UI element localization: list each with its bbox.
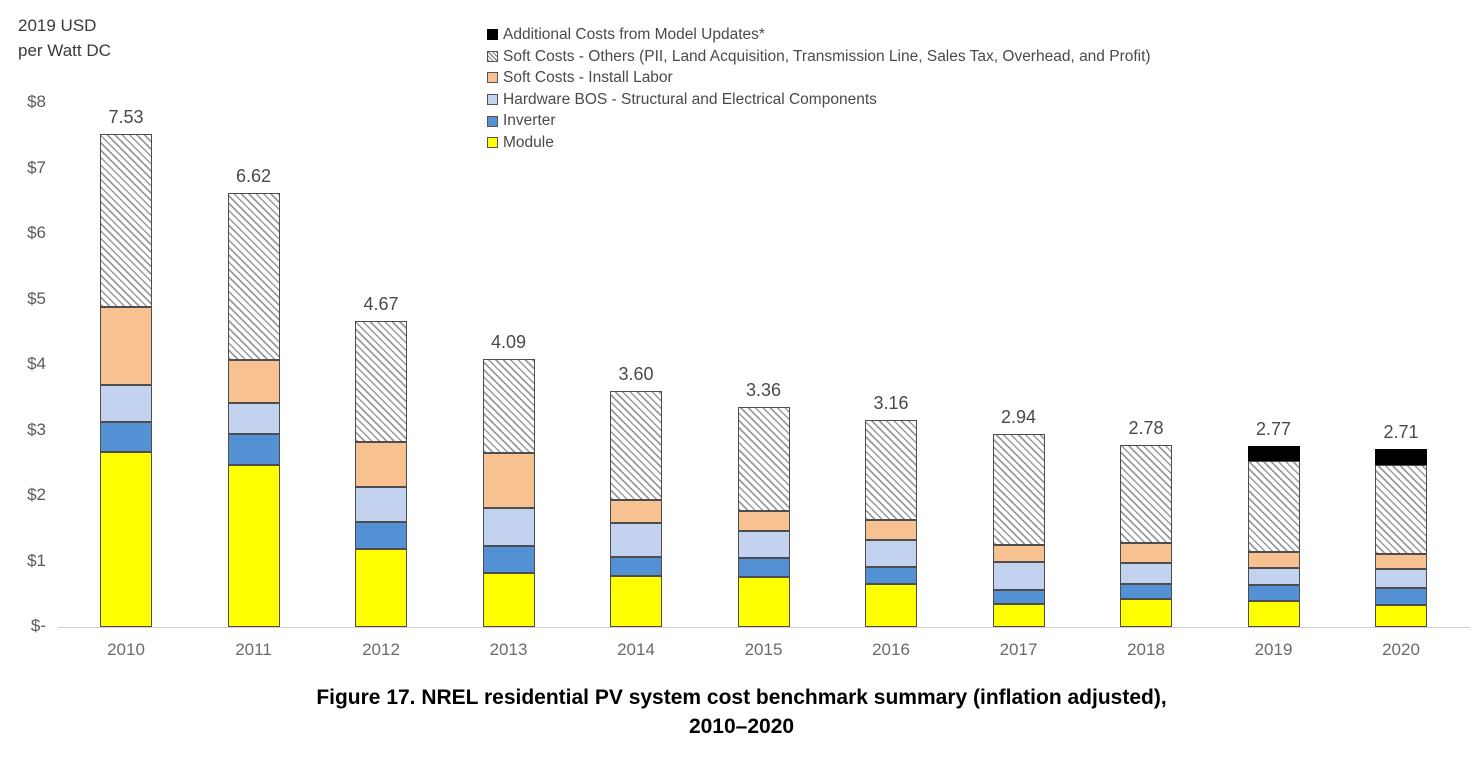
bar-segment[interactable] <box>610 557 662 576</box>
bar-segment[interactable] <box>993 545 1045 562</box>
bar-segment[interactable] <box>865 584 917 627</box>
bar-segment[interactable] <box>1120 445 1172 543</box>
x-axis-tick-label: 2017 <box>983 640 1055 660</box>
bar-segment[interactable] <box>1375 449 1427 464</box>
bar-segment[interactable] <box>1248 585 1300 601</box>
bar-segment[interactable] <box>865 567 917 584</box>
bar-total-label: 4.67 <box>345 294 417 315</box>
bar-2020[interactable]: 2.712020 <box>1375 0 1427 627</box>
bar-segment[interactable] <box>100 452 152 627</box>
x-axis-tick-label: 2019 <box>1238 640 1310 660</box>
bar-segment[interactable] <box>1375 465 1427 555</box>
y-axis-tick-label: $3 <box>0 420 46 440</box>
bar-total-label: 6.62 <box>218 166 290 187</box>
bar-2019[interactable]: 2.772019 <box>1248 0 1300 627</box>
bar-total-label: 2.94 <box>983 407 1055 428</box>
bar-segment[interactable] <box>738 577 790 627</box>
x-axis-tick-label: 2013 <box>473 640 545 660</box>
bar-2011[interactable]: 6.622011 <box>228 0 280 627</box>
caption-line-1: Figure 17. NREL residential PV system co… <box>0 683 1483 712</box>
bar-2017[interactable]: 2.942017 <box>993 0 1045 627</box>
bar-segment[interactable] <box>483 359 535 453</box>
bar-segment[interactable] <box>228 193 280 359</box>
bar-segment[interactable] <box>228 360 280 403</box>
bar-segment[interactable] <box>483 453 535 509</box>
bar-segment[interactable] <box>993 590 1045 604</box>
y-axis-tick-label: $8 <box>0 92 46 112</box>
x-axis-tick-label: 2018 <box>1110 640 1182 660</box>
bar-segment[interactable] <box>228 465 280 627</box>
x-axis-tick-label: 2010 <box>90 640 162 660</box>
bar-total-label: 4.09 <box>473 332 545 353</box>
bar-segment[interactable] <box>1120 584 1172 599</box>
bar-segment[interactable] <box>100 385 152 422</box>
bar-segment[interactable] <box>1248 568 1300 585</box>
x-axis-baseline <box>58 627 1470 628</box>
bar-segment[interactable] <box>228 403 280 434</box>
x-axis-tick-label: 2011 <box>218 640 290 660</box>
bar-total-label: 3.16 <box>855 393 927 414</box>
bar-segment[interactable] <box>100 307 152 385</box>
bar-segment[interactable] <box>610 523 662 557</box>
bar-2014[interactable]: 3.602014 <box>610 0 662 627</box>
bar-segment[interactable] <box>738 407 790 511</box>
x-axis-tick-label: 2016 <box>855 640 927 660</box>
x-axis-tick-label: 2014 <box>600 640 672 660</box>
bar-segment[interactable] <box>993 434 1045 545</box>
bar-2012[interactable]: 4.672012 <box>355 0 407 627</box>
bar-segment[interactable] <box>1120 599 1172 627</box>
y-axis-tick-label: $6 <box>0 223 46 243</box>
bar-segment[interactable] <box>355 522 407 550</box>
bar-segment[interactable] <box>1375 554 1427 569</box>
bar-total-label: 3.36 <box>728 380 800 401</box>
bar-2016[interactable]: 3.162016 <box>865 0 917 627</box>
bar-segment[interactable] <box>1248 461 1300 552</box>
bar-segment[interactable] <box>355 487 407 521</box>
bar-2015[interactable]: 3.362015 <box>738 0 790 627</box>
bar-segment[interactable] <box>865 420 917 520</box>
bar-segment[interactable] <box>1248 446 1300 461</box>
bar-segment[interactable] <box>483 546 535 573</box>
bar-total-label: 7.53 <box>90 107 162 128</box>
bar-total-label: 3.60 <box>600 364 672 385</box>
bar-segment[interactable] <box>483 508 535 546</box>
bar-segment[interactable] <box>865 520 917 540</box>
x-axis-tick-label: 2012 <box>345 640 417 660</box>
figure-caption: Figure 17. NREL residential PV system co… <box>0 683 1483 741</box>
x-axis-tick-label: 2015 <box>728 640 800 660</box>
bar-segment[interactable] <box>355 321 407 442</box>
bar-2018[interactable]: 2.782018 <box>1120 0 1172 627</box>
bar-segment[interactable] <box>610 576 662 627</box>
bar-segment[interactable] <box>1375 605 1427 627</box>
caption-line-2: 2010–2020 <box>0 712 1483 741</box>
plot-area: $-$1$2$3$4$5$6$7$87.5320106.6220114.6720… <box>0 0 1483 640</box>
bar-segment[interactable] <box>355 549 407 627</box>
figure-nrel-residential-pv-cost-benchmark: 2019 USD per Watt DC Additional Costs fr… <box>0 0 1483 760</box>
bar-segment[interactable] <box>100 422 152 452</box>
bar-total-label: 2.77 <box>1238 419 1310 440</box>
bar-segment[interactable] <box>865 540 917 567</box>
bar-segment[interactable] <box>1120 543 1172 563</box>
bar-segment[interactable] <box>610 391 662 500</box>
bar-segment[interactable] <box>1120 563 1172 583</box>
bar-segment[interactable] <box>1248 601 1300 627</box>
bar-segment[interactable] <box>610 500 662 523</box>
bar-total-label: 2.78 <box>1110 418 1182 439</box>
y-axis-tick-label: $1 <box>0 551 46 571</box>
bar-segment[interactable] <box>738 531 790 558</box>
y-axis-tick-label: $- <box>0 616 46 636</box>
y-axis-tick-label: $2 <box>0 485 46 505</box>
x-axis-tick-label: 2020 <box>1365 640 1437 660</box>
bar-segment[interactable] <box>993 604 1045 627</box>
bar-segment[interactable] <box>738 558 790 578</box>
bar-segment[interactable] <box>738 511 790 531</box>
bar-2010[interactable]: 7.532010 <box>100 0 152 627</box>
bar-segment[interactable] <box>100 134 152 308</box>
bar-segment[interactable] <box>1375 588 1427 605</box>
bar-segment[interactable] <box>355 442 407 487</box>
bar-total-label: 2.71 <box>1365 422 1437 443</box>
bar-segment[interactable] <box>228 434 280 465</box>
bar-segment[interactable] <box>1375 569 1427 587</box>
bar-segment[interactable] <box>993 562 1045 590</box>
bar-segment[interactable] <box>1248 552 1300 568</box>
y-axis-tick-label: $5 <box>0 289 46 309</box>
bar-segment[interactable] <box>483 573 535 627</box>
bar-2013[interactable]: 4.092013 <box>483 0 535 627</box>
y-axis-tick-label: $4 <box>0 354 46 374</box>
y-axis-tick-label: $7 <box>0 158 46 178</box>
